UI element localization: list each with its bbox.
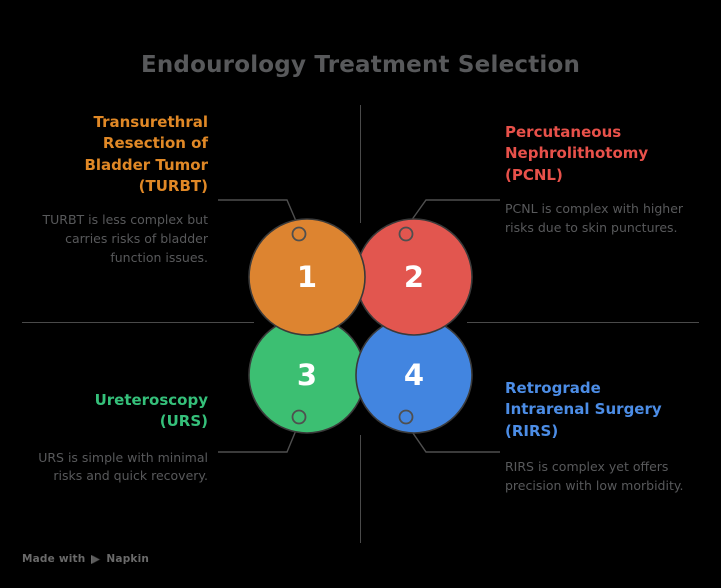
heading-urs-line2: (URS) [18,411,208,432]
heading-turbt-line1: Transurethral [18,112,208,133]
venn-number-3: 3 [297,358,317,392]
footer-attribution[interactable]: Made with Napkin [22,553,149,565]
label-block-turbt: Transurethral Resection of Bladder Tumor… [18,112,208,267]
heading-pcnl: Percutaneous Nephrolithotomy (PCNL) [505,122,705,186]
heading-turbt-line2: Resection of [18,133,208,154]
venn-number-2: 2 [404,260,424,294]
heading-rirs-line3: (RIRS) [505,421,705,442]
heading-urs-line1: Ureteroscopy [18,390,208,411]
heading-turbt-line3: Bladder Tumor [18,155,208,176]
footer-made-with-label: Made with [22,553,85,565]
heading-turbt: Transurethral Resection of Bladder Tumor… [18,112,208,197]
label-block-pcnl: Percutaneous Nephrolithotomy (PCNL) PCNL… [505,122,705,237]
label-block-urs: Ureteroscopy (URS) URS is simple with mi… [18,390,208,486]
body-urs: URS is simple with minimal risks and qui… [18,449,208,487]
infographic-canvas: Endourology Treatment Selection 1 2 3 4 [0,0,721,588]
heading-rirs-line1: Retrograde [505,378,705,399]
venn-number-1: 1 [297,260,317,294]
napkin-logo-icon [90,554,101,565]
footer-brand-label: Napkin [106,553,149,565]
body-rirs: RIRS is complex yet offers precision wit… [505,458,705,496]
heading-pcnl-line2: Nephrolithotomy [505,143,705,164]
body-turbt: TURBT is less complex but carries risks … [18,211,208,267]
body-pcnl: PCNL is complex with higher risks due to… [505,200,705,238]
heading-rirs: Retrograde Intrarenal Surgery (RIRS) [505,378,705,442]
heading-rirs-line2: Intrarenal Surgery [505,399,705,420]
label-block-rirs: Retrograde Intrarenal Surgery (RIRS) RIR… [505,378,705,495]
heading-urs: Ureteroscopy (URS) [18,390,208,433]
venn-number-4: 4 [404,358,424,392]
heading-turbt-line4: (TURBT) [18,176,208,197]
heading-pcnl-line3: (PCNL) [505,165,705,186]
venn-diagram: 1 2 3 4 [0,0,721,588]
heading-pcnl-line1: Percutaneous [505,122,705,143]
